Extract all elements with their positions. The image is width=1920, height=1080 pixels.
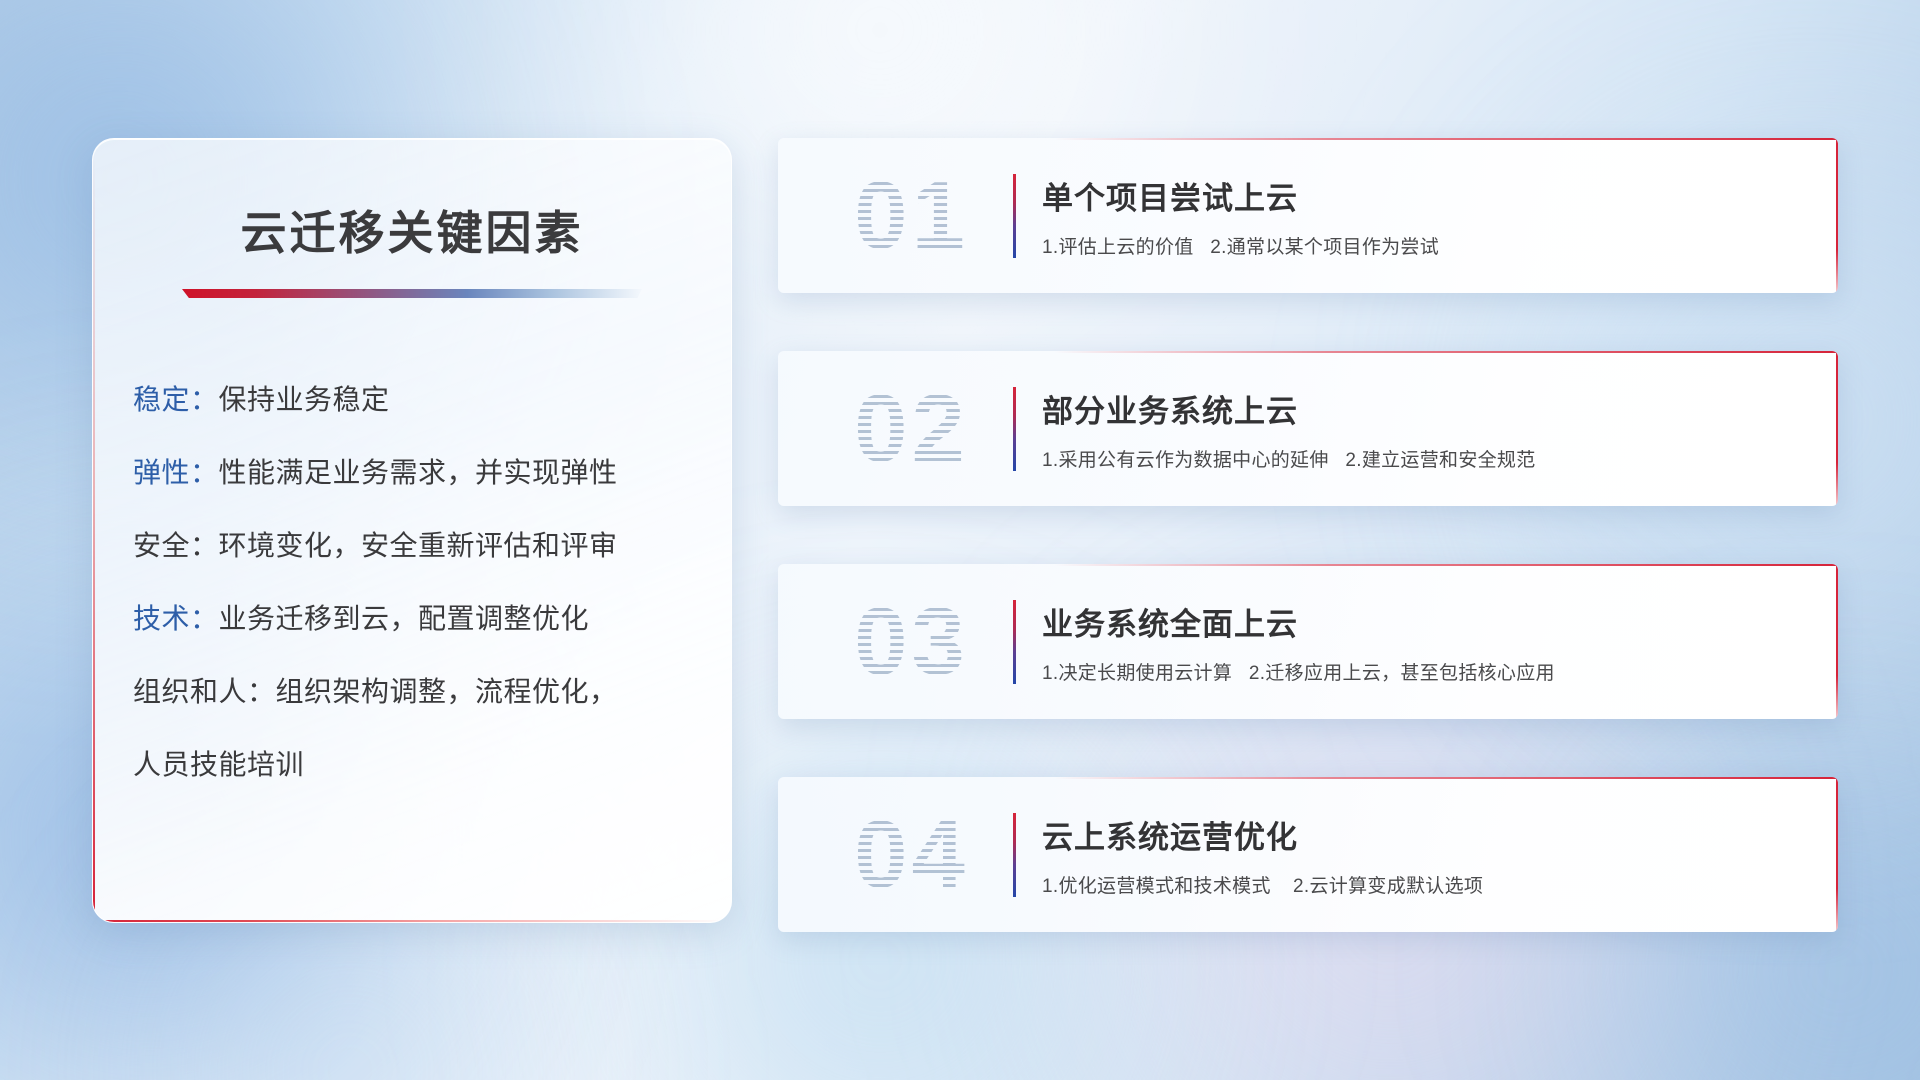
step-number-wrap: 02 xyxy=(778,381,1009,477)
step-description: 1.采用公有云作为数据中心的延伸 2.建立运营和安全规范 xyxy=(1042,445,1808,472)
factor-value: 环境变化，安全重新评估和评审 xyxy=(219,530,618,561)
step-card-inner: 02部分业务系统上云1.采用公有云作为数据中心的延伸 2.建立运营和安全规范 xyxy=(778,351,1838,506)
factor-key: 稳定： xyxy=(133,384,219,415)
step-card[interactable]: 04云上系统运营优化1.优化运营模式和技术模式 2.云计算变成默认选项 xyxy=(778,777,1838,932)
factor-row: 安全：环境变化，安全重新评估和评审 xyxy=(133,532,731,560)
step-title: 业务系统全面上云 xyxy=(1042,599,1808,644)
factor-key: 弹性： xyxy=(133,457,219,488)
step-divider xyxy=(1013,387,1016,471)
factor-row: 稳定：保持业务稳定 xyxy=(133,386,731,414)
step-divider xyxy=(1013,813,1016,897)
factor-value: 保持业务稳定 xyxy=(219,384,390,415)
step-card-inner: 01单个项目尝试上云1.评估上云的价值 2.通常以某个项目作为尝试 xyxy=(778,138,1838,293)
factor-row: 技术：业务迁移到云，配置调整优化 xyxy=(133,605,731,633)
page-title: 云迁移关键因素 xyxy=(93,197,731,263)
step-card[interactable]: 03业务系统全面上云1.决定长期使用云计算 2.迁移应用上云，甚至包括核心应用 xyxy=(778,564,1838,719)
step-card-inner: 04云上系统运营优化1.优化运营模式和技术模式 2.云计算变成默认选项 xyxy=(778,777,1838,932)
step-text-block: 业务系统全面上云1.决定长期使用云计算 2.迁移应用上云，甚至包括核心应用 xyxy=(1042,599,1838,685)
factor-row: 人员技能培训 xyxy=(133,751,731,779)
factor-key: 技术： xyxy=(133,603,219,634)
factor-value: 人员技能培训 xyxy=(133,749,304,780)
step-title: 云上系统运营优化 xyxy=(1042,812,1808,857)
step-number-wrap: 01 xyxy=(778,168,1009,264)
slide-stage: 云迁移关键因素 稳定：保持业务稳定弹性：性能满足业务需求，并实现弹性安全：环境变… xyxy=(0,0,1920,1080)
factor-value: 组织架构调整，流程优化， xyxy=(276,676,618,707)
factor-value: 业务迁移到云，配置调整优化 xyxy=(219,603,590,634)
step-text-block: 部分业务系统上云1.采用公有云作为数据中心的延伸 2.建立运营和安全规范 xyxy=(1042,386,1838,472)
factor-key: 安全： xyxy=(133,530,219,561)
step-card-list: 01单个项目尝试上云1.评估上云的价值 2.通常以某个项目作为尝试02部分业务系… xyxy=(778,138,1838,932)
step-divider xyxy=(1013,174,1016,258)
key-factors-panel: 云迁移关键因素 稳定：保持业务稳定弹性：性能满足业务需求，并实现弹性安全：环境变… xyxy=(92,138,732,923)
step-card-inner: 03业务系统全面上云1.决定长期使用云计算 2.迁移应用上云，甚至包括核心应用 xyxy=(778,564,1838,719)
title-underline-rule xyxy=(182,289,642,298)
step-card[interactable]: 02部分业务系统上云1.采用公有云作为数据中心的延伸 2.建立运营和安全规范 xyxy=(778,351,1838,506)
step-number: 04 xyxy=(814,807,1009,903)
step-number-wrap: 04 xyxy=(778,807,1009,903)
step-card[interactable]: 01单个项目尝试上云1.评估上云的价值 2.通常以某个项目作为尝试 xyxy=(778,138,1838,293)
step-title: 单个项目尝试上云 xyxy=(1042,173,1808,218)
step-text-block: 单个项目尝试上云1.评估上云的价值 2.通常以某个项目作为尝试 xyxy=(1042,173,1838,259)
step-text-block: 云上系统运营优化1.优化运营模式和技术模式 2.云计算变成默认选项 xyxy=(1042,812,1838,898)
step-divider xyxy=(1013,600,1016,684)
step-number: 03 xyxy=(814,594,1009,690)
step-description: 1.决定长期使用云计算 2.迁移应用上云，甚至包括核心应用 xyxy=(1042,658,1808,685)
step-description: 1.优化运营模式和技术模式 2.云计算变成默认选项 xyxy=(1042,871,1808,898)
step-number-wrap: 03 xyxy=(778,594,1009,690)
step-number: 02 xyxy=(814,381,1009,477)
factor-key: 组织和人： xyxy=(133,676,276,707)
factor-row: 组织和人：组织架构调整，流程优化， xyxy=(133,678,731,706)
step-number: 01 xyxy=(814,168,1009,264)
step-description: 1.评估上云的价值 2.通常以某个项目作为尝试 xyxy=(1042,232,1808,259)
step-title: 部分业务系统上云 xyxy=(1042,386,1808,431)
factor-row: 弹性：性能满足业务需求，并实现弹性 xyxy=(133,459,731,487)
factor-list: 稳定：保持业务稳定弹性：性能满足业务需求，并实现弹性安全：环境变化，安全重新评估… xyxy=(133,386,731,779)
factor-value: 性能满足业务需求，并实现弹性 xyxy=(219,457,618,488)
